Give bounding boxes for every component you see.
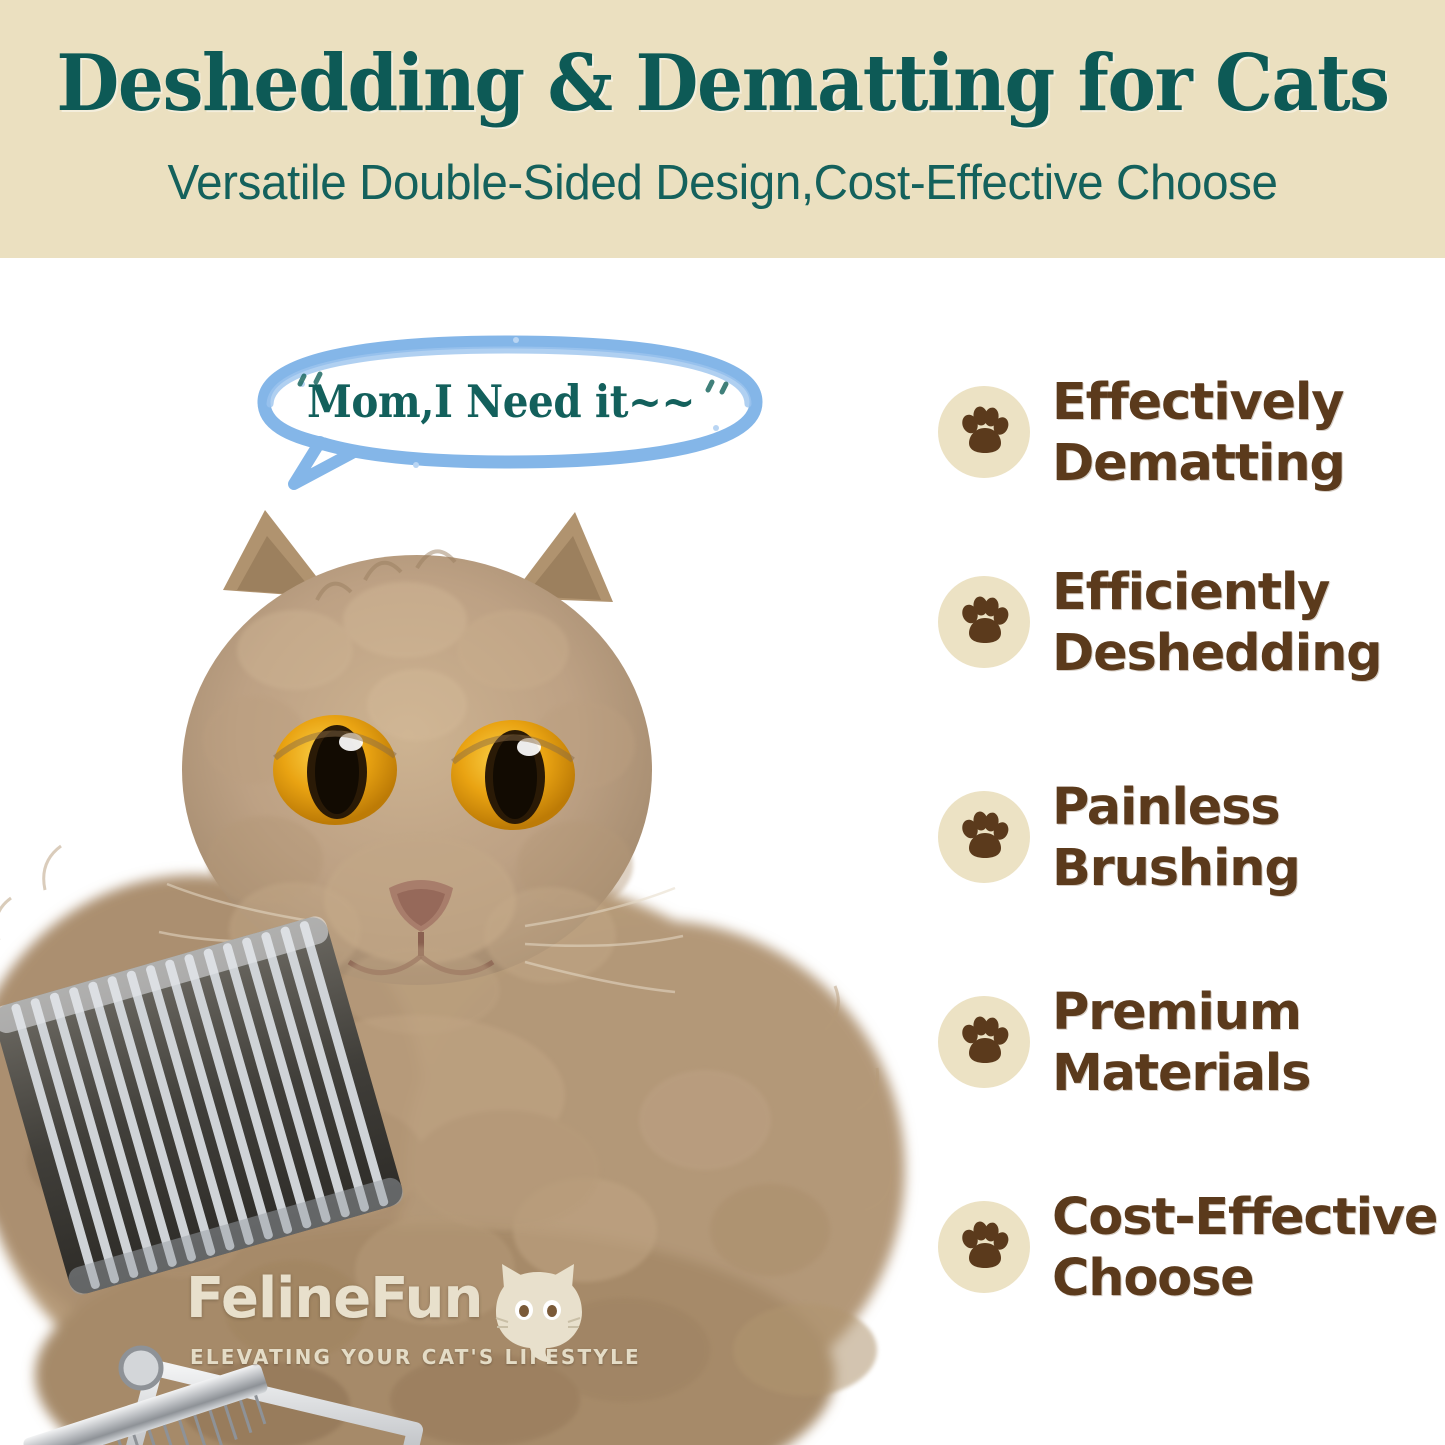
- speech-bubble-text: Mom,I Need it~~: [245, 376, 758, 428]
- paw-icon: [938, 386, 1030, 478]
- paw-icon: [938, 996, 1030, 1088]
- feature-label: Painless Brushing: [1052, 777, 1438, 899]
- feature-label-line2: Materials: [1052, 1043, 1438, 1104]
- feature-label-line1: Effectively: [1052, 372, 1438, 433]
- header-band: Deshedding & Dematting for Cats Versatil…: [0, 0, 1445, 258]
- feature-label-line1: Efficiently: [1052, 562, 1438, 623]
- feature-label: Effectively Dematting: [1052, 372, 1438, 494]
- feature-item-painless-brushing: Painless Brushing: [938, 791, 1438, 899]
- page-subtitle: Versatile Double-Sided Design,Cost-Effec…: [22, 152, 1424, 214]
- feature-item-premium-materials: Premium Materials: [938, 996, 1438, 1104]
- feature-label: Premium Materials: [1052, 982, 1438, 1104]
- brand-logo: FelineFun ELEVATING YOUR CAT'S LIFESTYLE: [186, 1268, 606, 1393]
- feature-list: Effectively Dematting Efficiently Deshed…: [938, 386, 1438, 1346]
- cat-head-mark-icon: [482, 1256, 594, 1368]
- feature-label: Efficiently Deshedding: [1052, 562, 1438, 684]
- speech-bubble: Mom,I Need it~~: [216, 332, 786, 492]
- feature-item-effectively-dematting: Effectively Dematting: [938, 386, 1438, 494]
- paw-icon: [938, 1201, 1030, 1293]
- paw-icon: [938, 576, 1030, 668]
- brand-name: FelineFun: [186, 1268, 482, 1330]
- feature-label-line1: Premium: [1052, 982, 1438, 1043]
- feature-label-line2: Choose: [1052, 1248, 1438, 1309]
- feature-item-cost-effective-choose: Cost-Effective Choose: [938, 1201, 1438, 1309]
- feature-label: Cost-Effective Choose: [1052, 1187, 1438, 1309]
- feature-label-line2: Dematting: [1052, 433, 1438, 494]
- feature-label-line1: Cost-Effective: [1052, 1187, 1438, 1248]
- feature-label-line2: Brushing: [1052, 838, 1438, 899]
- feature-label-line1: Painless: [1052, 777, 1438, 838]
- product-infographic: Deshedding & Dematting for Cats Versatil…: [0, 0, 1445, 1445]
- feature-label-line2: Deshedding: [1052, 623, 1438, 684]
- paw-icon: [938, 791, 1030, 883]
- page-title: Deshedding & Dematting for Cats: [51, 36, 1395, 132]
- feature-item-efficiently-deshedding: Efficiently Deshedding: [938, 576, 1438, 684]
